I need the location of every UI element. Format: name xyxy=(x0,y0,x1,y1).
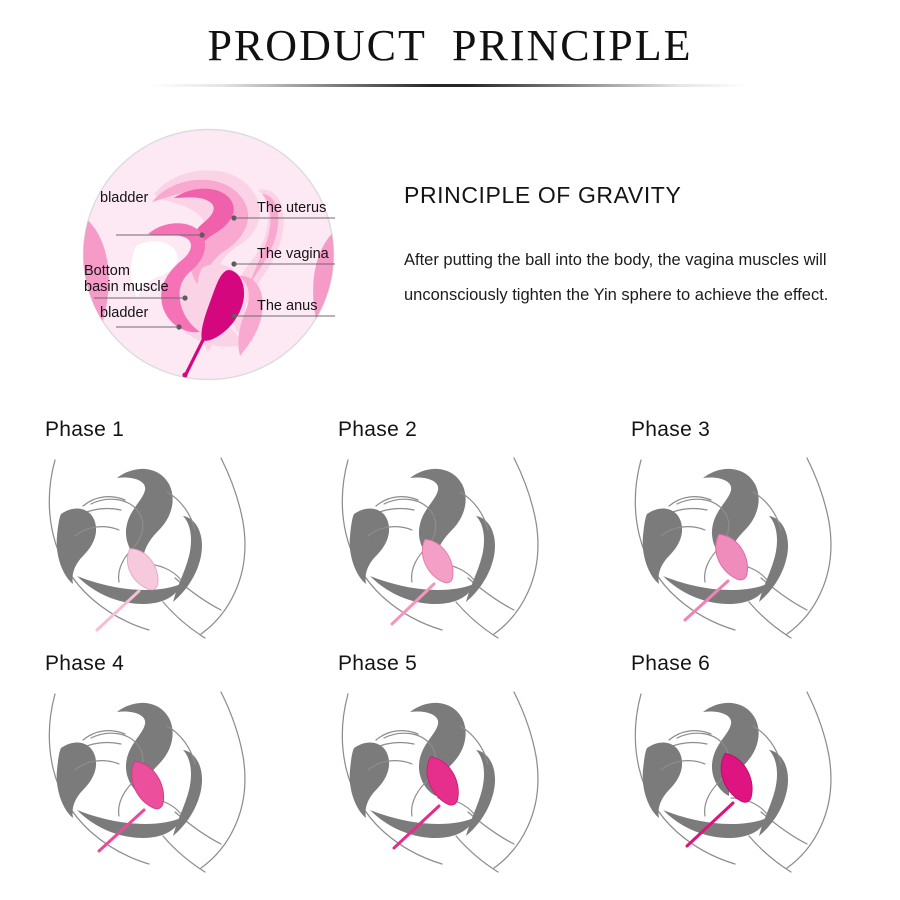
gravity-heading: PRINCIPLE OF GRAVITY xyxy=(404,182,874,209)
phase-cell: Phase 6 xyxy=(603,652,883,884)
rectum-mass xyxy=(466,516,495,602)
phase-label: Phase 5 xyxy=(338,652,417,676)
ball-string-end xyxy=(182,372,187,377)
rectum-mass xyxy=(173,516,202,602)
page-header: PRODUCT PRINCIPLE xyxy=(0,22,900,87)
body-contour-right xyxy=(494,692,538,868)
phase-illustration xyxy=(25,686,289,882)
page-title: PRODUCT PRINCIPLE xyxy=(0,22,900,70)
phase-cell: Phase 5 xyxy=(310,652,590,884)
anatomy-label-bottom-basin-muscle-line2: basin muscle xyxy=(84,279,169,295)
phase-label: Phase 1 xyxy=(45,418,124,442)
pelvic-curve-a xyxy=(83,731,125,740)
thigh-crease-2 xyxy=(749,836,791,872)
thigh-crease-2 xyxy=(163,602,205,638)
anatomy-label-bottom-basin-muscle: Bottom basin muscle xyxy=(84,263,169,295)
rectum-mass xyxy=(466,750,495,836)
pelvic-curve-a xyxy=(669,497,711,506)
body-contour-right xyxy=(201,458,245,634)
thigh-crease-2 xyxy=(456,602,498,638)
bladder-mass xyxy=(350,742,389,818)
thigh-crease-2 xyxy=(456,836,498,872)
thigh-crease-2 xyxy=(163,836,205,872)
phase-illustration xyxy=(611,686,875,882)
bladder-mass xyxy=(350,508,389,584)
pelvic-curve-a xyxy=(376,731,418,740)
phase-cell: Phase 1 xyxy=(17,418,297,650)
organ-masses xyxy=(350,469,495,604)
phase-cell: Phase 4 xyxy=(17,652,297,884)
organ-masses xyxy=(57,469,202,604)
phase-label: Phase 3 xyxy=(631,418,710,442)
rectum-mass xyxy=(759,750,788,836)
anatomy-label-bladder-top: bladder xyxy=(100,190,148,206)
pelvic-curve-a xyxy=(83,497,125,506)
pelvic-curve-a xyxy=(669,731,711,740)
anatomy-label-the-vagina: The vagina xyxy=(257,246,329,262)
rectum-mass xyxy=(759,516,788,602)
gravity-body-text: After putting the ball into the body, th… xyxy=(404,243,854,313)
phase-cell: Phase 3 xyxy=(603,418,883,650)
phase-illustration xyxy=(318,686,582,882)
rectum-mass xyxy=(173,750,202,836)
gravity-section: PRINCIPLE OF GRAVITY After putting the b… xyxy=(404,182,874,313)
uterus-mass xyxy=(117,469,173,562)
body-contour-right xyxy=(494,458,538,634)
ball-group xyxy=(392,533,460,624)
anatomy-label-bottom-basin-muscle-line1: Bottom xyxy=(84,263,169,279)
body-contour-right xyxy=(787,458,831,634)
phase-cell: Phase 2 xyxy=(310,418,590,650)
bladder-mass xyxy=(57,742,96,818)
bladder-mass xyxy=(57,508,96,584)
phase-grid: Phase 1 Phase 2 xyxy=(0,418,900,884)
pelvic-curve-a xyxy=(376,497,418,506)
anatomy-label-the-anus: The anus xyxy=(257,298,317,314)
phase-illustration xyxy=(611,452,875,648)
body-contour-right xyxy=(201,692,245,868)
phase-label: Phase 2 xyxy=(338,418,417,442)
ball-group xyxy=(685,528,755,620)
bladder-mass xyxy=(643,742,682,818)
title-divider xyxy=(150,84,750,87)
thigh-crease-2 xyxy=(749,602,791,638)
phase-illustration xyxy=(25,452,289,648)
body-contour-right xyxy=(787,692,831,868)
phase-illustration xyxy=(318,452,582,648)
organ-masses xyxy=(643,469,788,604)
organ-masses xyxy=(350,703,495,838)
anatomy-label-the-uterus: The uterus xyxy=(257,200,326,216)
phase-label: Phase 4 xyxy=(45,652,124,676)
anatomy-label-bladder-bottom: bladder xyxy=(100,305,148,321)
phase-label: Phase 6 xyxy=(631,652,710,676)
bladder-mass xyxy=(643,508,682,584)
organ-masses xyxy=(57,703,202,838)
